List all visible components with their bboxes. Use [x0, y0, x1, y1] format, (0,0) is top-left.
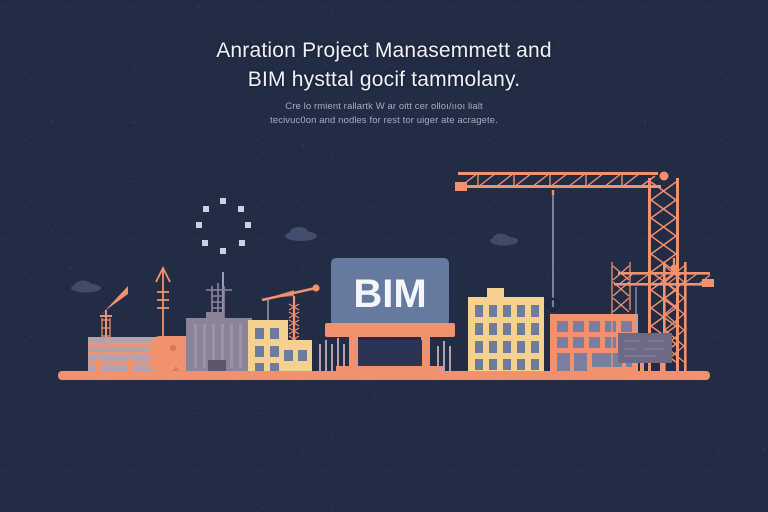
building-yellow-tall: [468, 288, 544, 372]
cloud-left: [71, 281, 101, 293]
tower-gray: [186, 312, 252, 372]
construction-scene-illustration: BIM: [0, 0, 768, 512]
building-yellow-small: [248, 320, 312, 372]
bim-sign-label: BIM: [353, 272, 426, 316]
cloud-right: [490, 234, 518, 246]
poster-canvas: Anration Project Manasemmett and BIM hys…: [0, 0, 768, 512]
ground-line: [58, 371, 710, 380]
cloud-center: [285, 227, 317, 241]
